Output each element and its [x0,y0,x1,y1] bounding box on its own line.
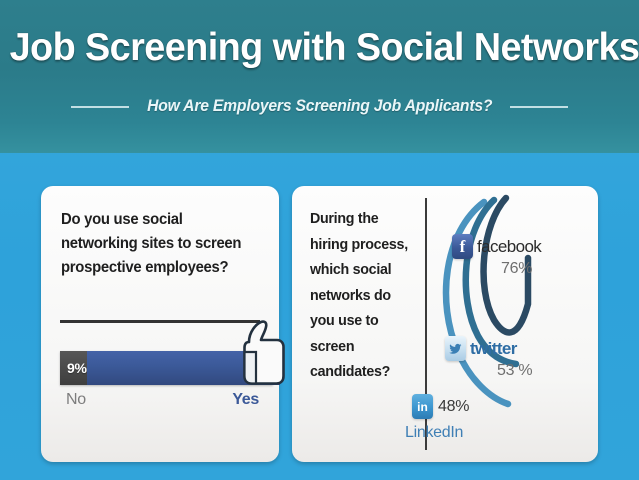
bar-axis-labels: No Yes [60,391,273,415]
facebook-icon: f [452,234,473,259]
card-screening-question: Do you use social networking sites to sc… [41,186,279,462]
bar-label-yes: Yes [232,391,259,409]
linkedin-label: LinkedIn [405,424,463,442]
left-card-question: Do you use social networking sites to sc… [61,208,253,280]
subtitle-row: How Are Employers Screening Job Applican… [0,97,639,116]
header-band: Job Screening with Social Networks How A… [0,0,639,153]
linkedin-icon: in [412,394,433,419]
bar-label-no: No [66,391,86,409]
bar-value-no: 9% [67,360,87,376]
facebook-label: facebook [477,237,541,257]
card-networks-question: During the hiring process, which social … [292,186,598,462]
twitter-percent: 53 % [497,362,532,380]
twitter-icon [445,336,466,361]
page-title: Job Screening with Social Networks [10,26,630,70]
subtitle-rule-right [510,106,568,108]
twitter-bird-glyph [449,342,463,356]
linkedin-glyph: in [417,401,428,413]
linkedin-percent: 48% [438,398,469,416]
left-card-divider [60,320,260,323]
page-subtitle: How Are Employers Screening Job Applican… [147,97,492,116]
infographic-canvas: Job Screening with Social Networks How A… [0,0,639,480]
facebook-glyph: f [460,238,466,255]
network-twitter: twitter [445,336,517,361]
bar-value-yes: 91% [247,360,274,376]
twitter-label: twitter [470,339,517,359]
network-facebook: f facebook [452,234,541,259]
bar-segment-no: 9% [60,351,87,385]
radial-arc-chart [432,184,598,460]
facebook-percent: 76% [501,260,532,278]
bar-segment-yes: 91% [87,351,281,385]
right-card-question: During the hiring process, which social … [310,206,413,385]
network-linkedin: in [412,394,433,419]
stacked-bar-chart: 9% 91% [60,351,273,385]
subtitle-rule-left [71,106,129,108]
